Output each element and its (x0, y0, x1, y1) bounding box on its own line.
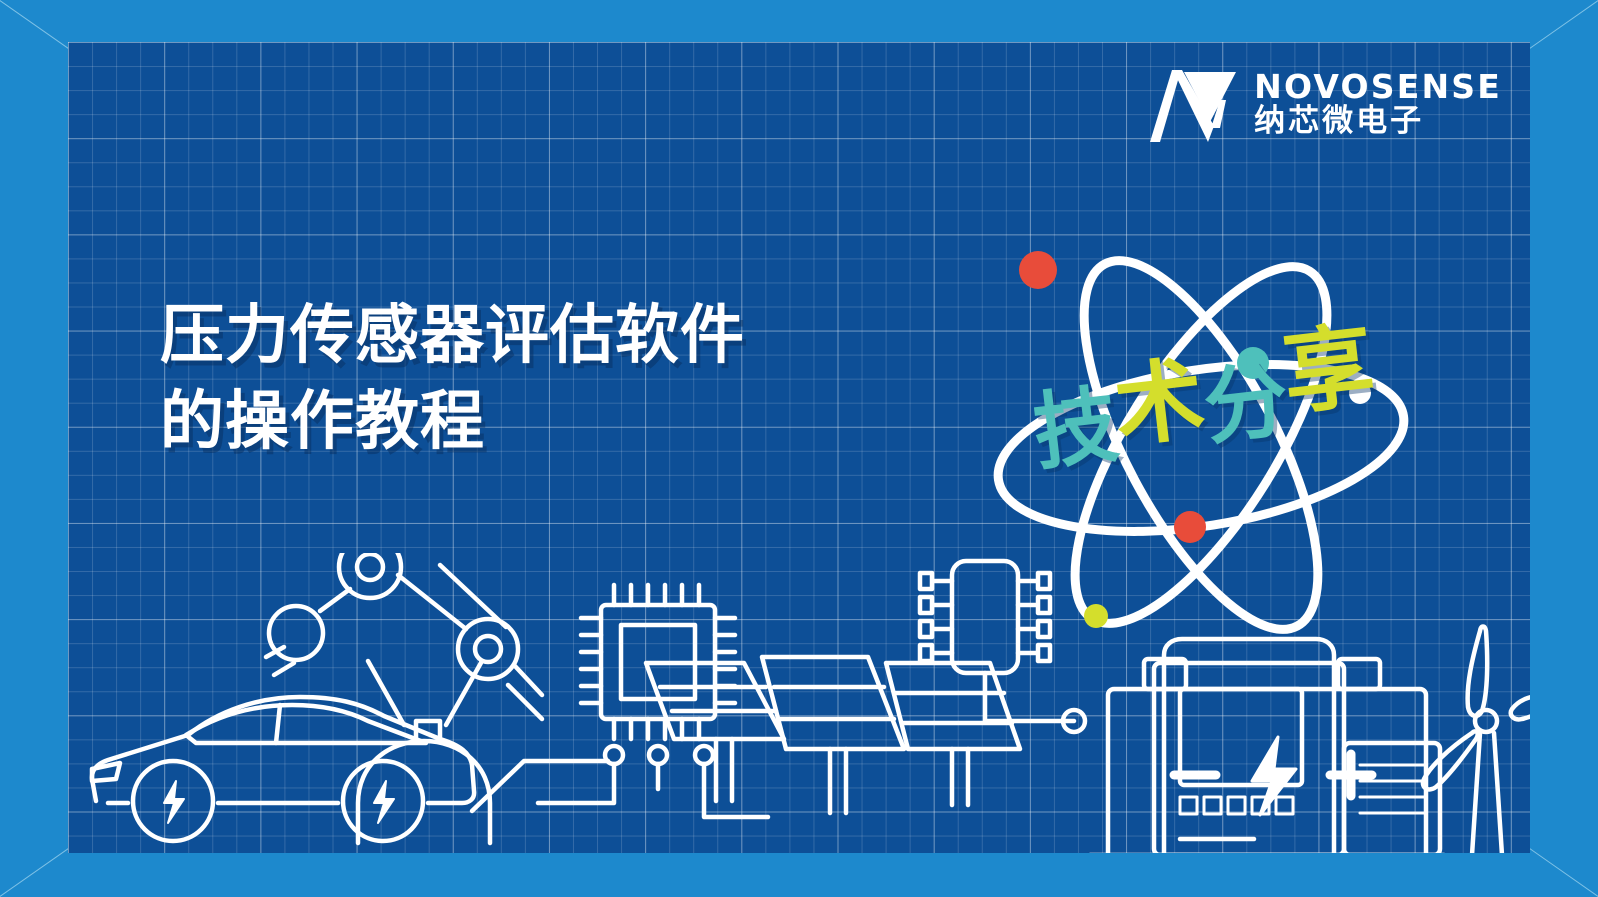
blueprint-line-art-band-right (68, 553, 1530, 853)
electron-red-top-left-icon (1019, 251, 1057, 289)
novosense-n-mark-icon (1148, 64, 1240, 144)
logo-english: NOVOSENSE (1254, 70, 1502, 103)
charging-station-icon (1154, 639, 1440, 853)
logo-chinese: 纳芯微电子 (1254, 105, 1502, 138)
cover-slide: NOVOSENSE 纳芯微电子 压力传感器评估软件 的操作教程 (0, 0, 1598, 897)
wordmark-char-1: 技 (1029, 382, 1124, 475)
logo-text-block: NOVOSENSE 纳芯微电子 (1254, 70, 1502, 138)
electron-red-bottom-icon (1174, 511, 1206, 543)
wordmark-char-2: 术 (1110, 354, 1211, 453)
blueprint-panel: NOVOSENSE 纳芯微电子 压力传感器评估软件 的操作教程 (68, 42, 1530, 853)
novosense-logo: NOVOSENSE 纳芯微电子 (1148, 64, 1502, 144)
wordmark-char-4: 享 (1279, 319, 1382, 420)
wordmark-char-3: 分 (1200, 357, 1295, 450)
page-title: 压力传感器评估软件 的操作教程 (160, 294, 745, 466)
